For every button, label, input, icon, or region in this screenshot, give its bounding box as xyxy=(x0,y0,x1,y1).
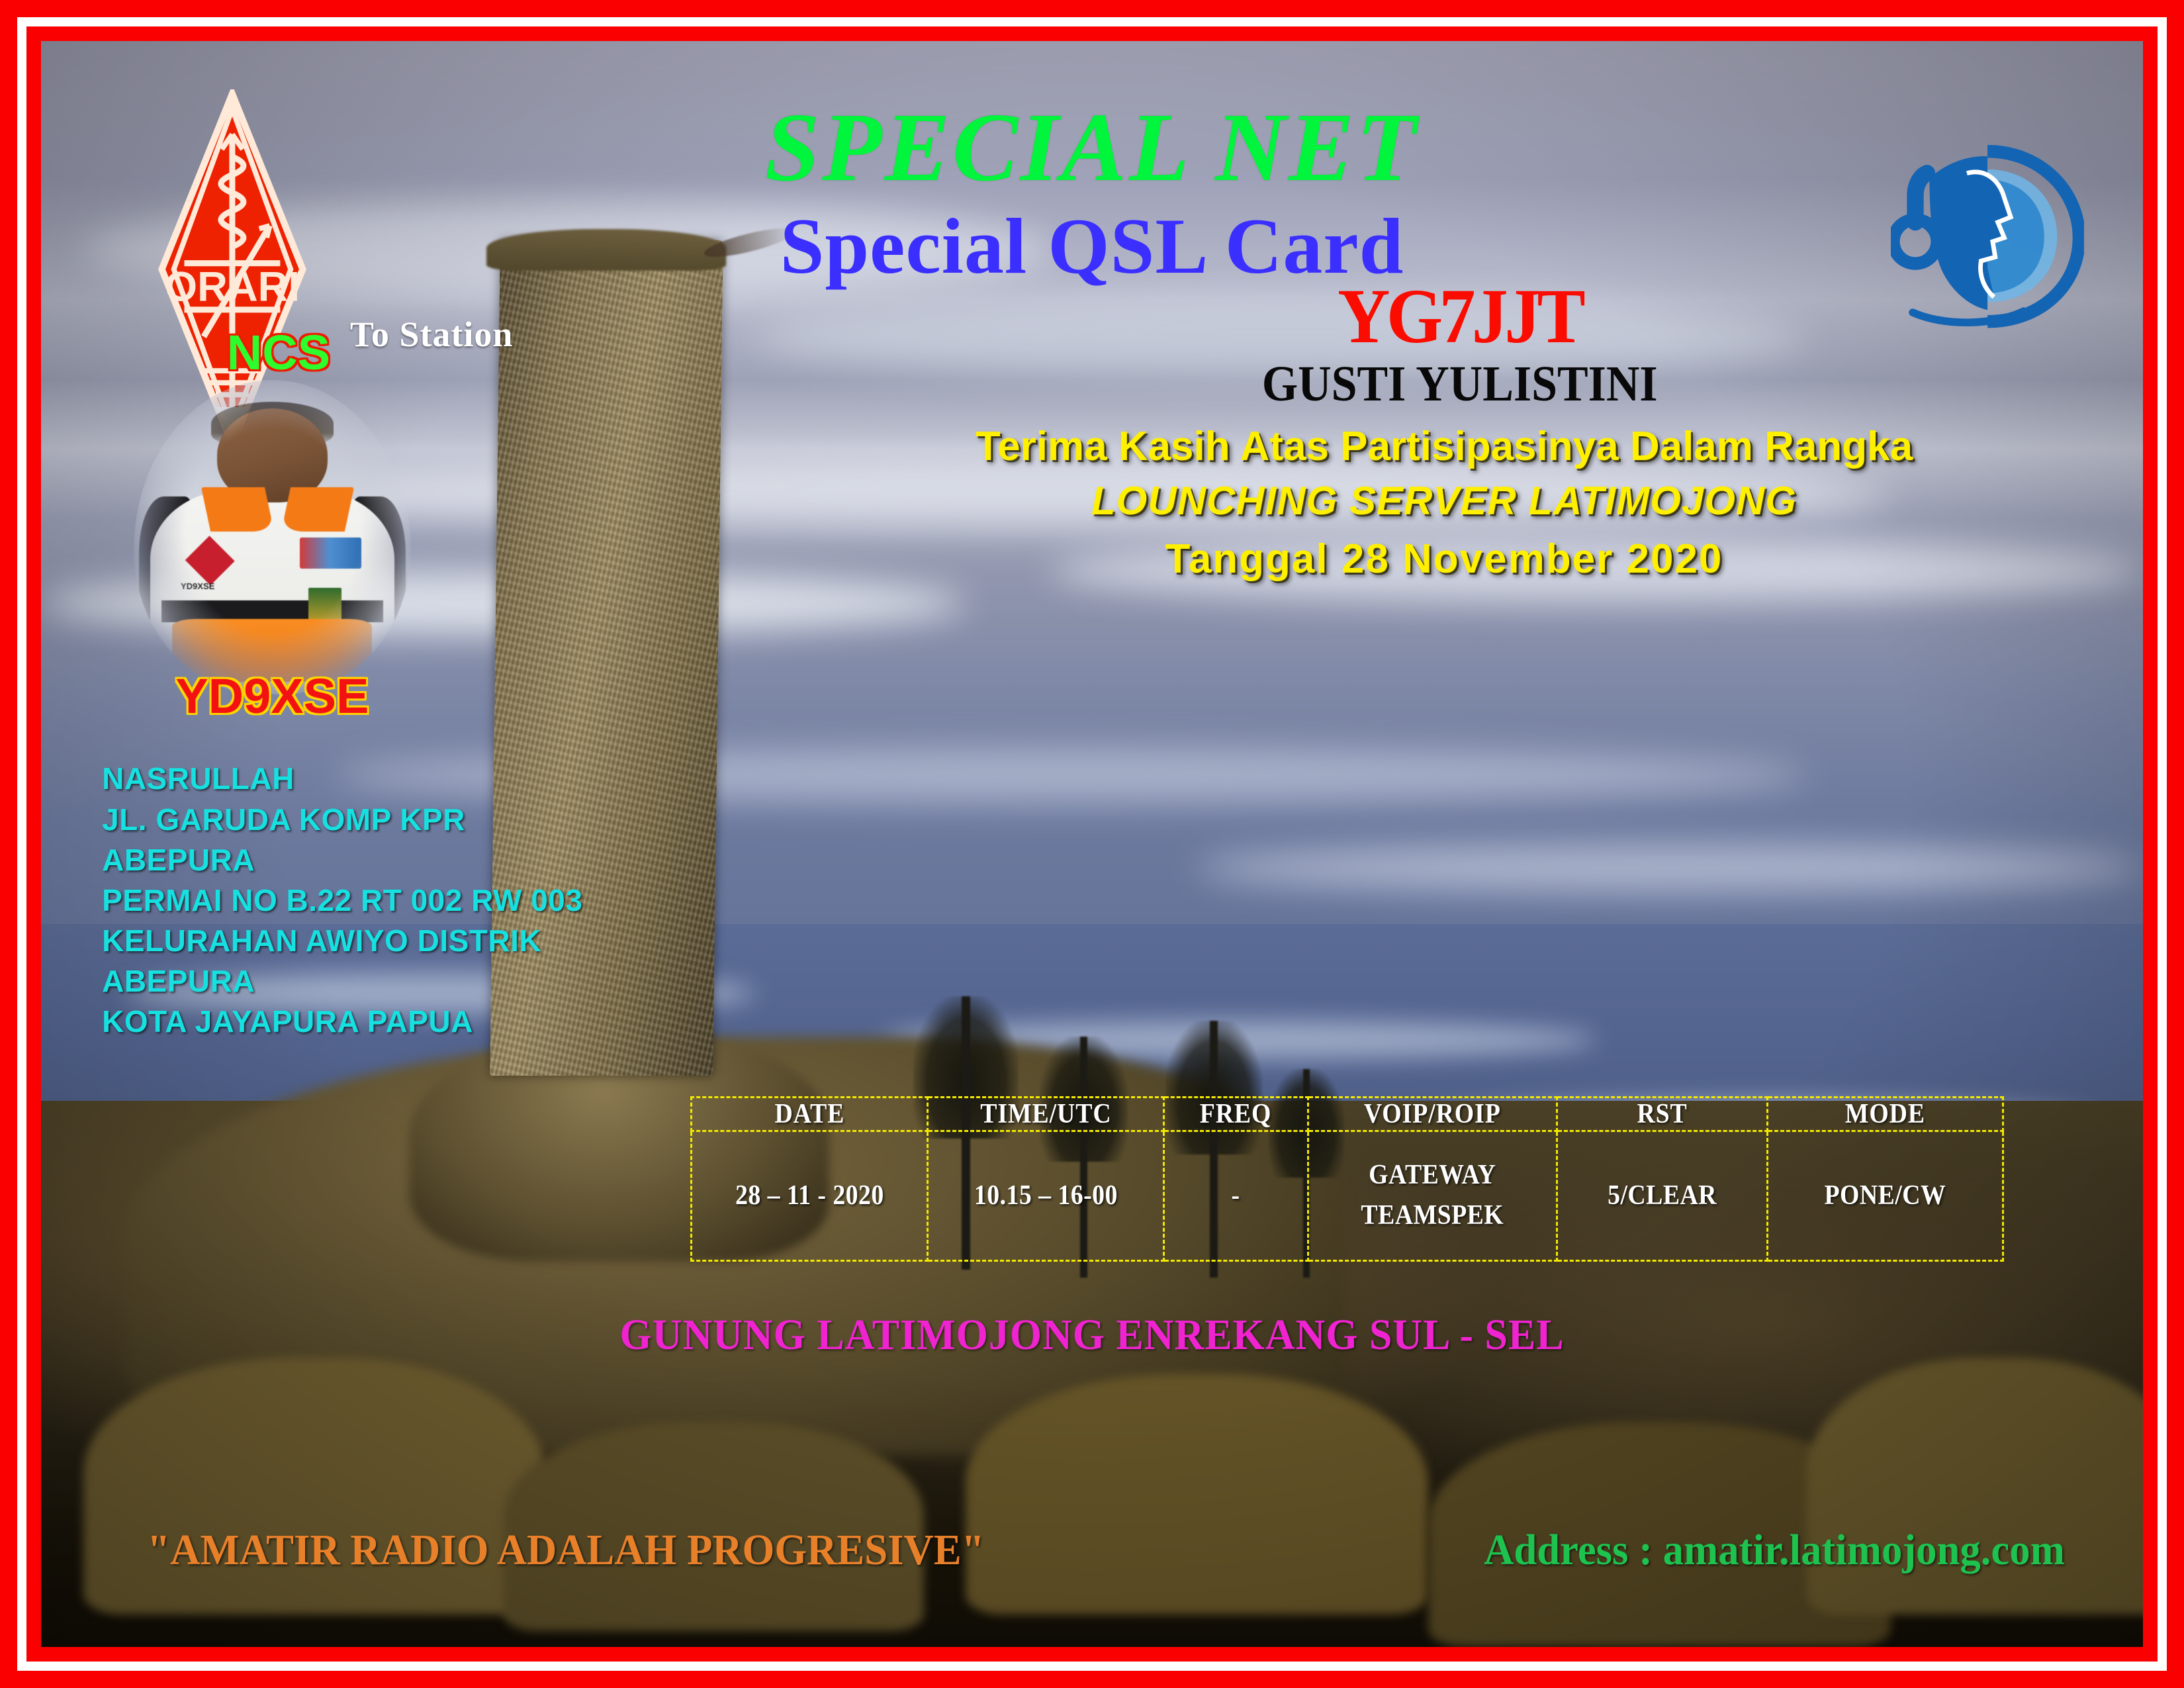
address-line: ABEPURA xyxy=(102,961,649,1002)
col-header-date: DATE xyxy=(704,1097,916,1131)
ncs-role-label: NCS xyxy=(163,328,394,377)
web-address-text: Address : amatir.latimojong.com xyxy=(1484,1525,2065,1575)
col-header-freq: FREQ xyxy=(1171,1097,1300,1131)
operator-avatar: YD9XSE xyxy=(134,380,411,694)
recipient-name: GUSTI YULISTINI xyxy=(947,359,1972,409)
table-row: 28 – 11 - 2020 10.15 – 16-00 - GATEWAY T… xyxy=(692,1131,2003,1260)
address-line: ABEPURA xyxy=(102,840,649,880)
location-caption: GUNUNG LATIMOJONG ENREKANG SUL - SEL xyxy=(104,1310,2079,1360)
cell-rst: 5/CLEAR xyxy=(1568,1131,1756,1260)
qsl-card: ORARI xyxy=(0,0,2184,1688)
thanks-line-1: Terima Kasih Atas Partisipasinya Dalam R… xyxy=(787,426,2101,467)
card-content: ORARI xyxy=(41,41,2143,1647)
address-line: PERMAI NO B.22 RT 002 RW 003 xyxy=(102,880,649,921)
cell-time: 10.15 – 16-00 xyxy=(939,1131,1152,1260)
address-line: JL. GARUDA KOMP KPR xyxy=(102,800,649,840)
address-line: KELURAHAN AWIYO DISTRIK xyxy=(102,921,649,961)
col-header-rst: RST xyxy=(1568,1097,1756,1131)
cell-date: 28 – 11 - 2020 xyxy=(704,1131,916,1260)
col-header-time: TIME/UTC xyxy=(939,1097,1152,1131)
card-white-frame: ORARI xyxy=(17,17,2167,1671)
address-line: KOTA JAYAPURA PAPUA xyxy=(102,1002,649,1042)
col-header-mode: MODE xyxy=(1779,1097,1991,1131)
table-header-row: DATE TIME/UTC FREQ VOIP/ROIP RST MODE xyxy=(692,1097,2003,1131)
thanks-line-2: LOUNCHING SERVER LATIMOJONG xyxy=(787,481,2101,521)
cell-voip-roip: GATEWAY TEAMSPEK xyxy=(1320,1131,1545,1260)
col-header-voip: VOIP/ROIP xyxy=(1320,1097,1545,1131)
postal-address: NASRULLAH JL. GARUDA KOMP KPR ABEPURA PE… xyxy=(102,759,649,1042)
motto-text: "AMATIR RADIO ADALAH PROGRESIVE" xyxy=(147,1525,984,1575)
cell-freq: - xyxy=(1171,1131,1300,1260)
recipient-callsign: YG7JJT xyxy=(942,277,1978,355)
card-subtitle: Special QSL Card xyxy=(41,207,2143,286)
ncs-callsign: YD9XSE xyxy=(104,672,440,721)
thanks-line-3: Tanggal 28 November 2020 xyxy=(787,539,2101,580)
cell-voip-line1: GATEWAY xyxy=(1322,1155,1544,1196)
qso-log-table: DATE TIME/UTC FREQ VOIP/ROIP RST MODE 28… xyxy=(690,1096,2004,1262)
address-line: NASRULLAH xyxy=(102,759,649,799)
card-inner-red-frame: ORARI xyxy=(26,26,2158,1662)
uniform-callsign-text: YD9XSE xyxy=(181,581,214,591)
cell-mode: PONE/CW xyxy=(1779,1131,1991,1260)
card-background-photo: ORARI xyxy=(41,41,2143,1647)
cell-voip-line2: TEAMSPEK xyxy=(1322,1196,1544,1236)
page-title: SPECIAL NET xyxy=(41,99,2143,197)
